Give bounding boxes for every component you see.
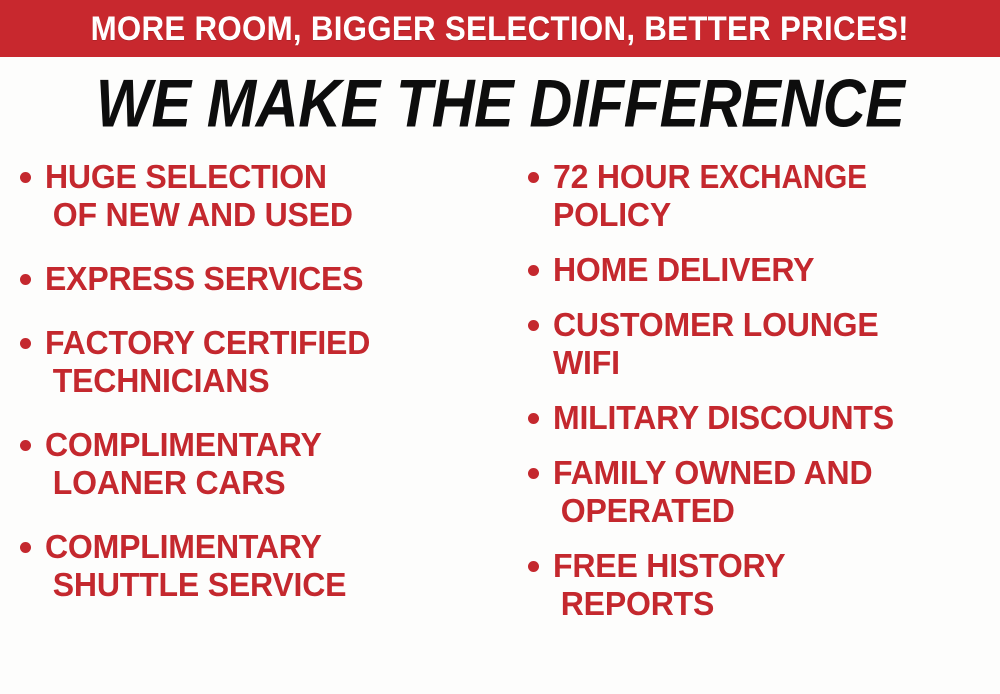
advertisement-root: MORE ROOM, BIGGER SELECTION, BETTER PRIC… — [0, 0, 1000, 694]
benefit-line-part: 72 HOUR — [553, 158, 699, 195]
benefit-text: 72 HOUR EXCHANGE POLICY — [553, 158, 987, 234]
bullet-dot-icon — [20, 440, 31, 451]
benefits-columns: HUGE SELECTION OF NEW AND USED EXPRESS S… — [0, 158, 1000, 694]
benefit-line: OF NEW AND USED — [45, 196, 491, 234]
benefits-left-column: HUGE SELECTION OF NEW AND USED EXPRESS S… — [0, 158, 505, 694]
bullet-dot-icon — [20, 274, 31, 285]
benefit-line: SHUTTLE SERVICE — [45, 566, 491, 604]
list-item: HOME DELIVERY — [528, 251, 1000, 289]
bullet-dot-icon — [20, 172, 31, 183]
benefit-line: TECHNICIANS — [45, 362, 491, 400]
list-item: EXPRESS SERVICES — [20, 260, 505, 298]
benefit-line: MILITARY DISCOUNTS — [553, 399, 987, 437]
benefit-text: FAMILY OWNED AND OPERATED — [553, 454, 987, 530]
bullet-dot-icon — [528, 413, 539, 424]
benefit-line: HOME DELIVERY — [553, 251, 987, 289]
headline-container: WE MAKE THE DIFFERENCE — [0, 60, 1000, 145]
list-item: FREE HISTORY REPORTS — [528, 547, 1000, 623]
benefit-text: HOME DELIVERY — [553, 251, 987, 289]
benefit-line: POLICY — [553, 196, 987, 234]
benefit-line: OPERATED — [553, 492, 987, 530]
benefit-line: 72 HOUR EXCHANGE — [553, 158, 987, 196]
benefit-line: LOANER CARS — [45, 464, 491, 502]
bullet-dot-icon — [528, 320, 539, 331]
list-item: COMPLIMENTARY LOANER CARS — [20, 426, 505, 502]
benefit-line: WIFI — [553, 344, 987, 382]
benefit-line: EXPRESS SERVICES — [45, 260, 491, 298]
benefit-text: EXPRESS SERVICES — [45, 260, 491, 298]
benefit-line: COMPLIMENTARY — [45, 426, 491, 464]
page-title: WE MAKE THE DIFFERENCE — [96, 69, 905, 136]
list-item: COMPLIMENTARY SHUTTLE SERVICE — [20, 528, 505, 604]
benefit-line: FREE HISTORY — [553, 547, 987, 585]
benefit-line: COMPLIMENTARY — [45, 528, 491, 566]
benefits-right-column: 72 HOUR EXCHANGE POLICY HOME DELIVERY CU… — [505, 158, 1000, 694]
benefit-line-part: EXCHANGE — [699, 158, 866, 196]
promo-banner-text: MORE ROOM, BIGGER SELECTION, BETTER PRIC… — [91, 12, 909, 46]
bullet-dot-icon — [20, 338, 31, 349]
promo-banner: MORE ROOM, BIGGER SELECTION, BETTER PRIC… — [0, 0, 1000, 57]
benefit-line: HUGE SELECTION — [45, 158, 491, 196]
bullet-dot-icon — [20, 542, 31, 553]
bullet-dot-icon — [528, 468, 539, 479]
list-item: 72 HOUR EXCHANGE POLICY — [528, 158, 1000, 234]
bullet-dot-icon — [528, 172, 539, 183]
list-item: FACTORY CERTIFIED TECHNICIANS — [20, 324, 505, 400]
benefit-line: FAMILY OWNED AND — [553, 454, 987, 492]
list-item: CUSTOMER LOUNGE WIFI — [528, 306, 1000, 382]
benefit-text: HUGE SELECTION OF NEW AND USED — [45, 158, 491, 234]
bullet-dot-icon — [528, 561, 539, 572]
benefit-line: FACTORY CERTIFIED — [45, 324, 491, 362]
list-item: HUGE SELECTION OF NEW AND USED — [20, 158, 505, 234]
benefit-text: COMPLIMENTARY LOANER CARS — [45, 426, 491, 502]
benefit-text: FACTORY CERTIFIED TECHNICIANS — [45, 324, 491, 400]
benefit-line: REPORTS — [553, 585, 987, 623]
benefit-text: CUSTOMER LOUNGE WIFI — [553, 306, 987, 382]
benefit-text: COMPLIMENTARY SHUTTLE SERVICE — [45, 528, 491, 604]
list-item: MILITARY DISCOUNTS — [528, 399, 1000, 437]
benefit-text: MILITARY DISCOUNTS — [553, 399, 987, 437]
benefit-line: CUSTOMER LOUNGE — [553, 306, 987, 344]
benefit-text: FREE HISTORY REPORTS — [553, 547, 987, 623]
bullet-dot-icon — [528, 265, 539, 276]
list-item: FAMILY OWNED AND OPERATED — [528, 454, 1000, 530]
